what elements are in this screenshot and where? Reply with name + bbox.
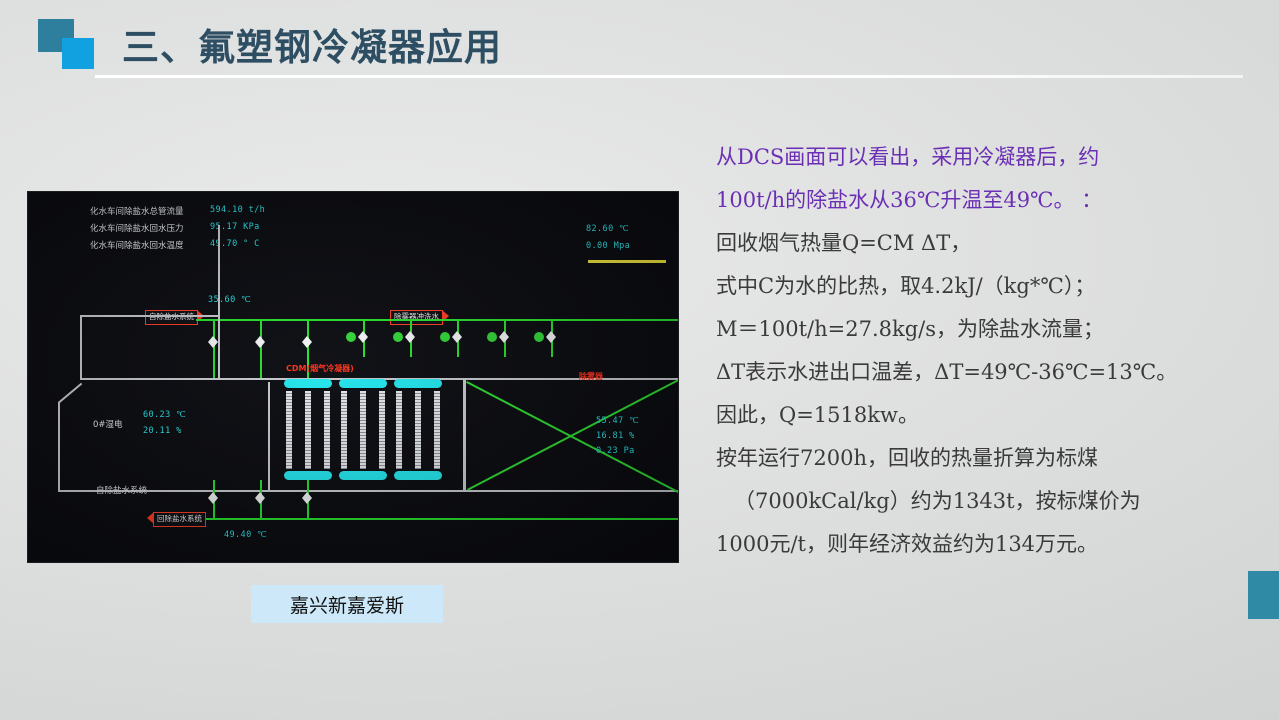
dcs-readout-label-2: 化水车间除盐水回水温度 [90, 239, 184, 251]
dcs-duct-riser [218, 225, 220, 380]
dcs-duct-readout-0: 60.23 ℃ [143, 410, 186, 420]
dcs-duct-sep-left [268, 382, 270, 490]
dcs-demister-readout-2: 0.23 Pa [596, 446, 635, 456]
dcs-tube-bundle-3 [396, 391, 440, 469]
dcs-inlet-temp: 35.60 ℃ [208, 295, 251, 305]
dcs-valve-top-2 [255, 336, 266, 348]
body-text-line-8: （7000kCal/kg）约为1343t，按标煤价为 [716, 480, 1264, 523]
dcs-valve-return-1 [208, 492, 219, 504]
dcs-left-label-1: 自除盐水系统 [96, 484, 147, 496]
dcs-pipe-supply-header [196, 319, 678, 321]
dcs-inlet-tag: 自除盐水系统 [145, 310, 198, 325]
dcs-readout-value-0: 594.10 t/h [210, 205, 265, 215]
dcs-pump-icon-5 [534, 332, 544, 342]
dcs-pump-icon-3 [440, 332, 450, 342]
dcs-pipe-return-header [196, 518, 678, 520]
page-title: 三、氟塑钢冷凝器应用 [122, 17, 502, 71]
body-text-line-1: 100t/h的除盐水从36℃升温至49℃。 ： [716, 179, 1264, 222]
image-caption-text: 嘉兴新嘉爱斯 [290, 591, 404, 618]
dcs-pump-icon-4 [487, 332, 497, 342]
dcs-module-cap-top-1 [284, 379, 332, 388]
dcs-readout-label-0: 化水车间除盐水总管流量 [90, 205, 184, 217]
dcs-valve-spray-3 [452, 331, 463, 343]
dcs-pipe-drop-2 [260, 319, 262, 379]
dcs-valve-return-3 [302, 492, 313, 504]
body-text-line-6: 因此，Q=1518kw。 [716, 394, 1264, 437]
dcs-module-cap-top-2 [339, 379, 387, 388]
decor-square-light [62, 38, 94, 69]
dcs-readout-label-1: 化水车间除盐水回水压力 [90, 222, 184, 234]
body-text-line-4: M＝100t/h=27.8kg/s，为除盐水流量； [716, 308, 1264, 351]
dcs-valve-spray-2 [405, 331, 416, 343]
dcs-topright-value-0: 82.60 ℃ [586, 224, 629, 234]
dcs-left-label-0: 0#湿电 [93, 418, 123, 430]
dcs-valve-return-2 [255, 492, 266, 504]
dcs-duct-left [58, 402, 60, 492]
body-text-line-9: 1000元/t，则年经济效益约为134万元。 [716, 523, 1264, 566]
dcs-condenser-label: CDM(烟气冷凝器) [286, 363, 354, 374]
dcs-topright-value-1: 0.00 Mpa [586, 241, 630, 251]
dcs-duct-inlet-top [80, 315, 220, 317]
body-text-line-0: 从DCS画面可以看出，采用冷凝器后，约 [716, 136, 1264, 179]
dcs-tube-bundle-1 [286, 391, 330, 469]
dcs-wash-tag: 除雾器冲洗水 [390, 310, 443, 325]
title-divider [95, 75, 1243, 78]
dcs-return-temp: 49.40 ℃ [224, 530, 267, 540]
dcs-tube-bundle-2 [341, 391, 385, 469]
dcs-demister-readout-1: 16.81 % [596, 431, 635, 441]
dcs-demister-readout-0: 55.47 ℃ [596, 416, 639, 426]
image-caption: 嘉兴新嘉爱斯 [251, 585, 443, 623]
dcs-return-tag: 回除盐水系统 [153, 512, 206, 527]
dcs-screenshot-image: 化水车间除盐水总管流量 594.10 t/h 化水车间除盐水回水压力 95.17… [28, 192, 678, 562]
dcs-yellow-bar [588, 260, 666, 263]
dcs-duct-bevel-1 [58, 383, 82, 404]
dcs-valve-top-3 [302, 336, 313, 348]
dcs-valve-spray-4 [499, 331, 510, 343]
body-text-column: 从DCS画面可以看出，采用冷凝器后，约100t/h的除盐水从36℃升温至49℃。… [716, 136, 1264, 566]
dcs-pump-icon-2 [393, 332, 403, 342]
body-text-line-7: 按年运行7200h，回收的热量折算为标煤 [716, 437, 1264, 480]
body-text-line-3: 式中C为水的比热，取4.2kJ/（kg*℃）； [716, 265, 1264, 308]
dcs-module-cap-bot-2 [339, 471, 387, 480]
edge-accent-marker [1248, 571, 1279, 619]
dcs-duct-inlet-left [80, 315, 82, 379]
dcs-valve-spray-5 [546, 331, 557, 343]
dcs-module-cap-bot-3 [394, 471, 442, 480]
dcs-demister-label: 除雾器 [579, 371, 603, 382]
body-text-line-5: ΔT表示水进出口温差，ΔT=49℃-36℃=13℃。 [716, 351, 1264, 394]
dcs-duct-readout-1: 20.11 % [143, 426, 182, 436]
slide-canvas: 三、氟塑钢冷凝器应用 化水车间除盐水总管流量 594.10 t/h 化水车间除盐… [0, 0, 1279, 720]
body-text-line-2: 回收烟气热量Q=CM ΔT， [716, 222, 1264, 265]
dcs-pump-icon-1 [346, 332, 356, 342]
dcs-module-cap-top-3 [394, 379, 442, 388]
dcs-valve-spray-1 [358, 331, 369, 343]
dcs-pipe-drop-1 [213, 319, 215, 379]
dcs-module-cap-bot-1 [284, 471, 332, 480]
